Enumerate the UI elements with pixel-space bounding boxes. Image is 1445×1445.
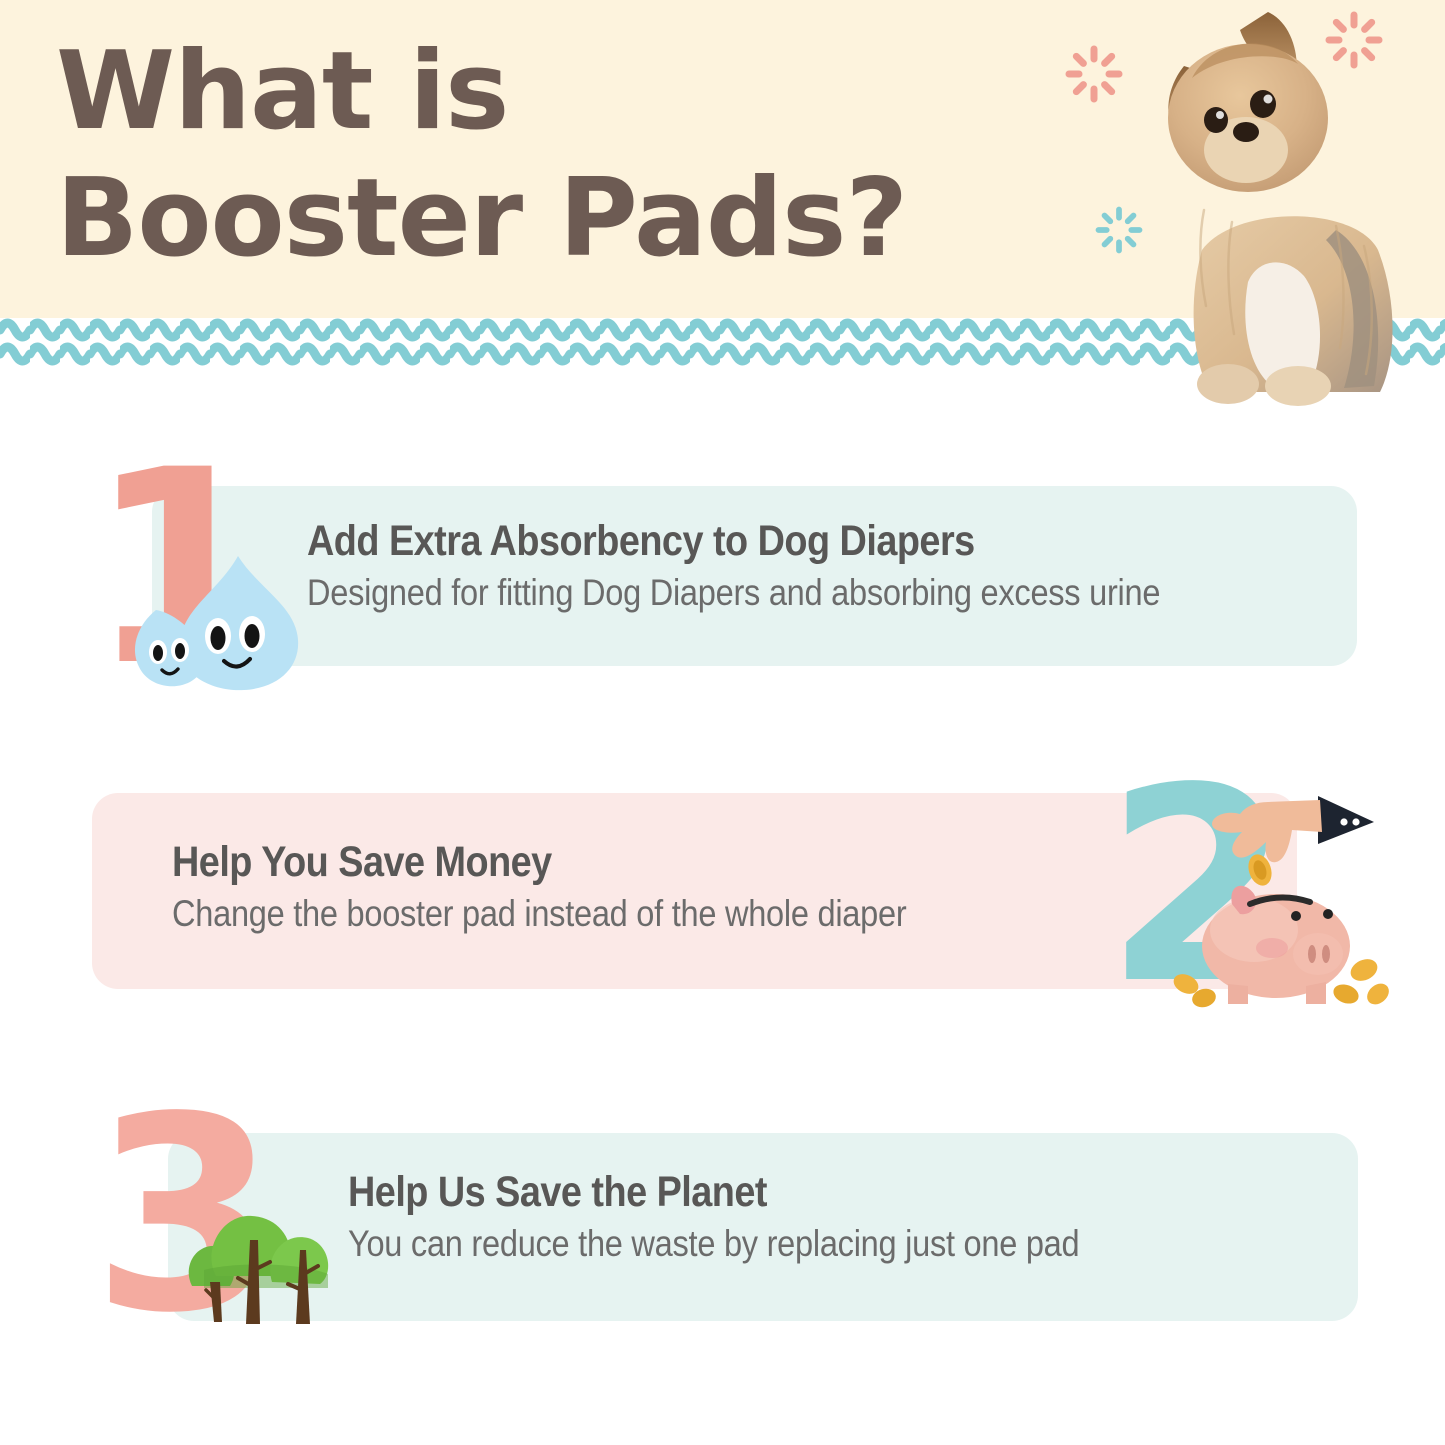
card-2-title: Help You Save Money xyxy=(172,838,906,887)
page-title: What is Booster Pads? xyxy=(56,28,1106,283)
water-drop-mascot-icon xyxy=(118,548,308,693)
trees-icon xyxy=(188,1178,343,1326)
infographic-page: What is Booster Pads? xyxy=(0,0,1445,1445)
card-2-text: Help You Save Money Change the booster p… xyxy=(172,838,1007,935)
card-1-title: Add Extra Absorbency to Dog Diapers xyxy=(307,517,1160,566)
card-1-text: Add Extra Absorbency to Dog Diapers Desi… xyxy=(307,517,1277,614)
card-2-subtitle: Change the booster pad instead of the wh… xyxy=(172,893,906,935)
card-3-subtitle: You can reduce the waste by replacing ju… xyxy=(348,1223,1079,1265)
card-3-title: Help Us Save the Planet xyxy=(348,1168,1079,1217)
page-title-line-1: What is xyxy=(56,29,508,154)
starburst-icon xyxy=(1093,204,1145,256)
starburst-icon xyxy=(1062,42,1126,106)
card-1-subtitle: Designed for fitting Dog Diapers and abs… xyxy=(307,572,1160,614)
card-3-text: Help Us Save the Planet You can reduce t… xyxy=(348,1168,1179,1265)
page-title-line-2: Booster Pads? xyxy=(56,155,1106,282)
dog-photo xyxy=(1140,0,1440,410)
piggy-bank-with-coin-icon xyxy=(1168,788,1403,1010)
